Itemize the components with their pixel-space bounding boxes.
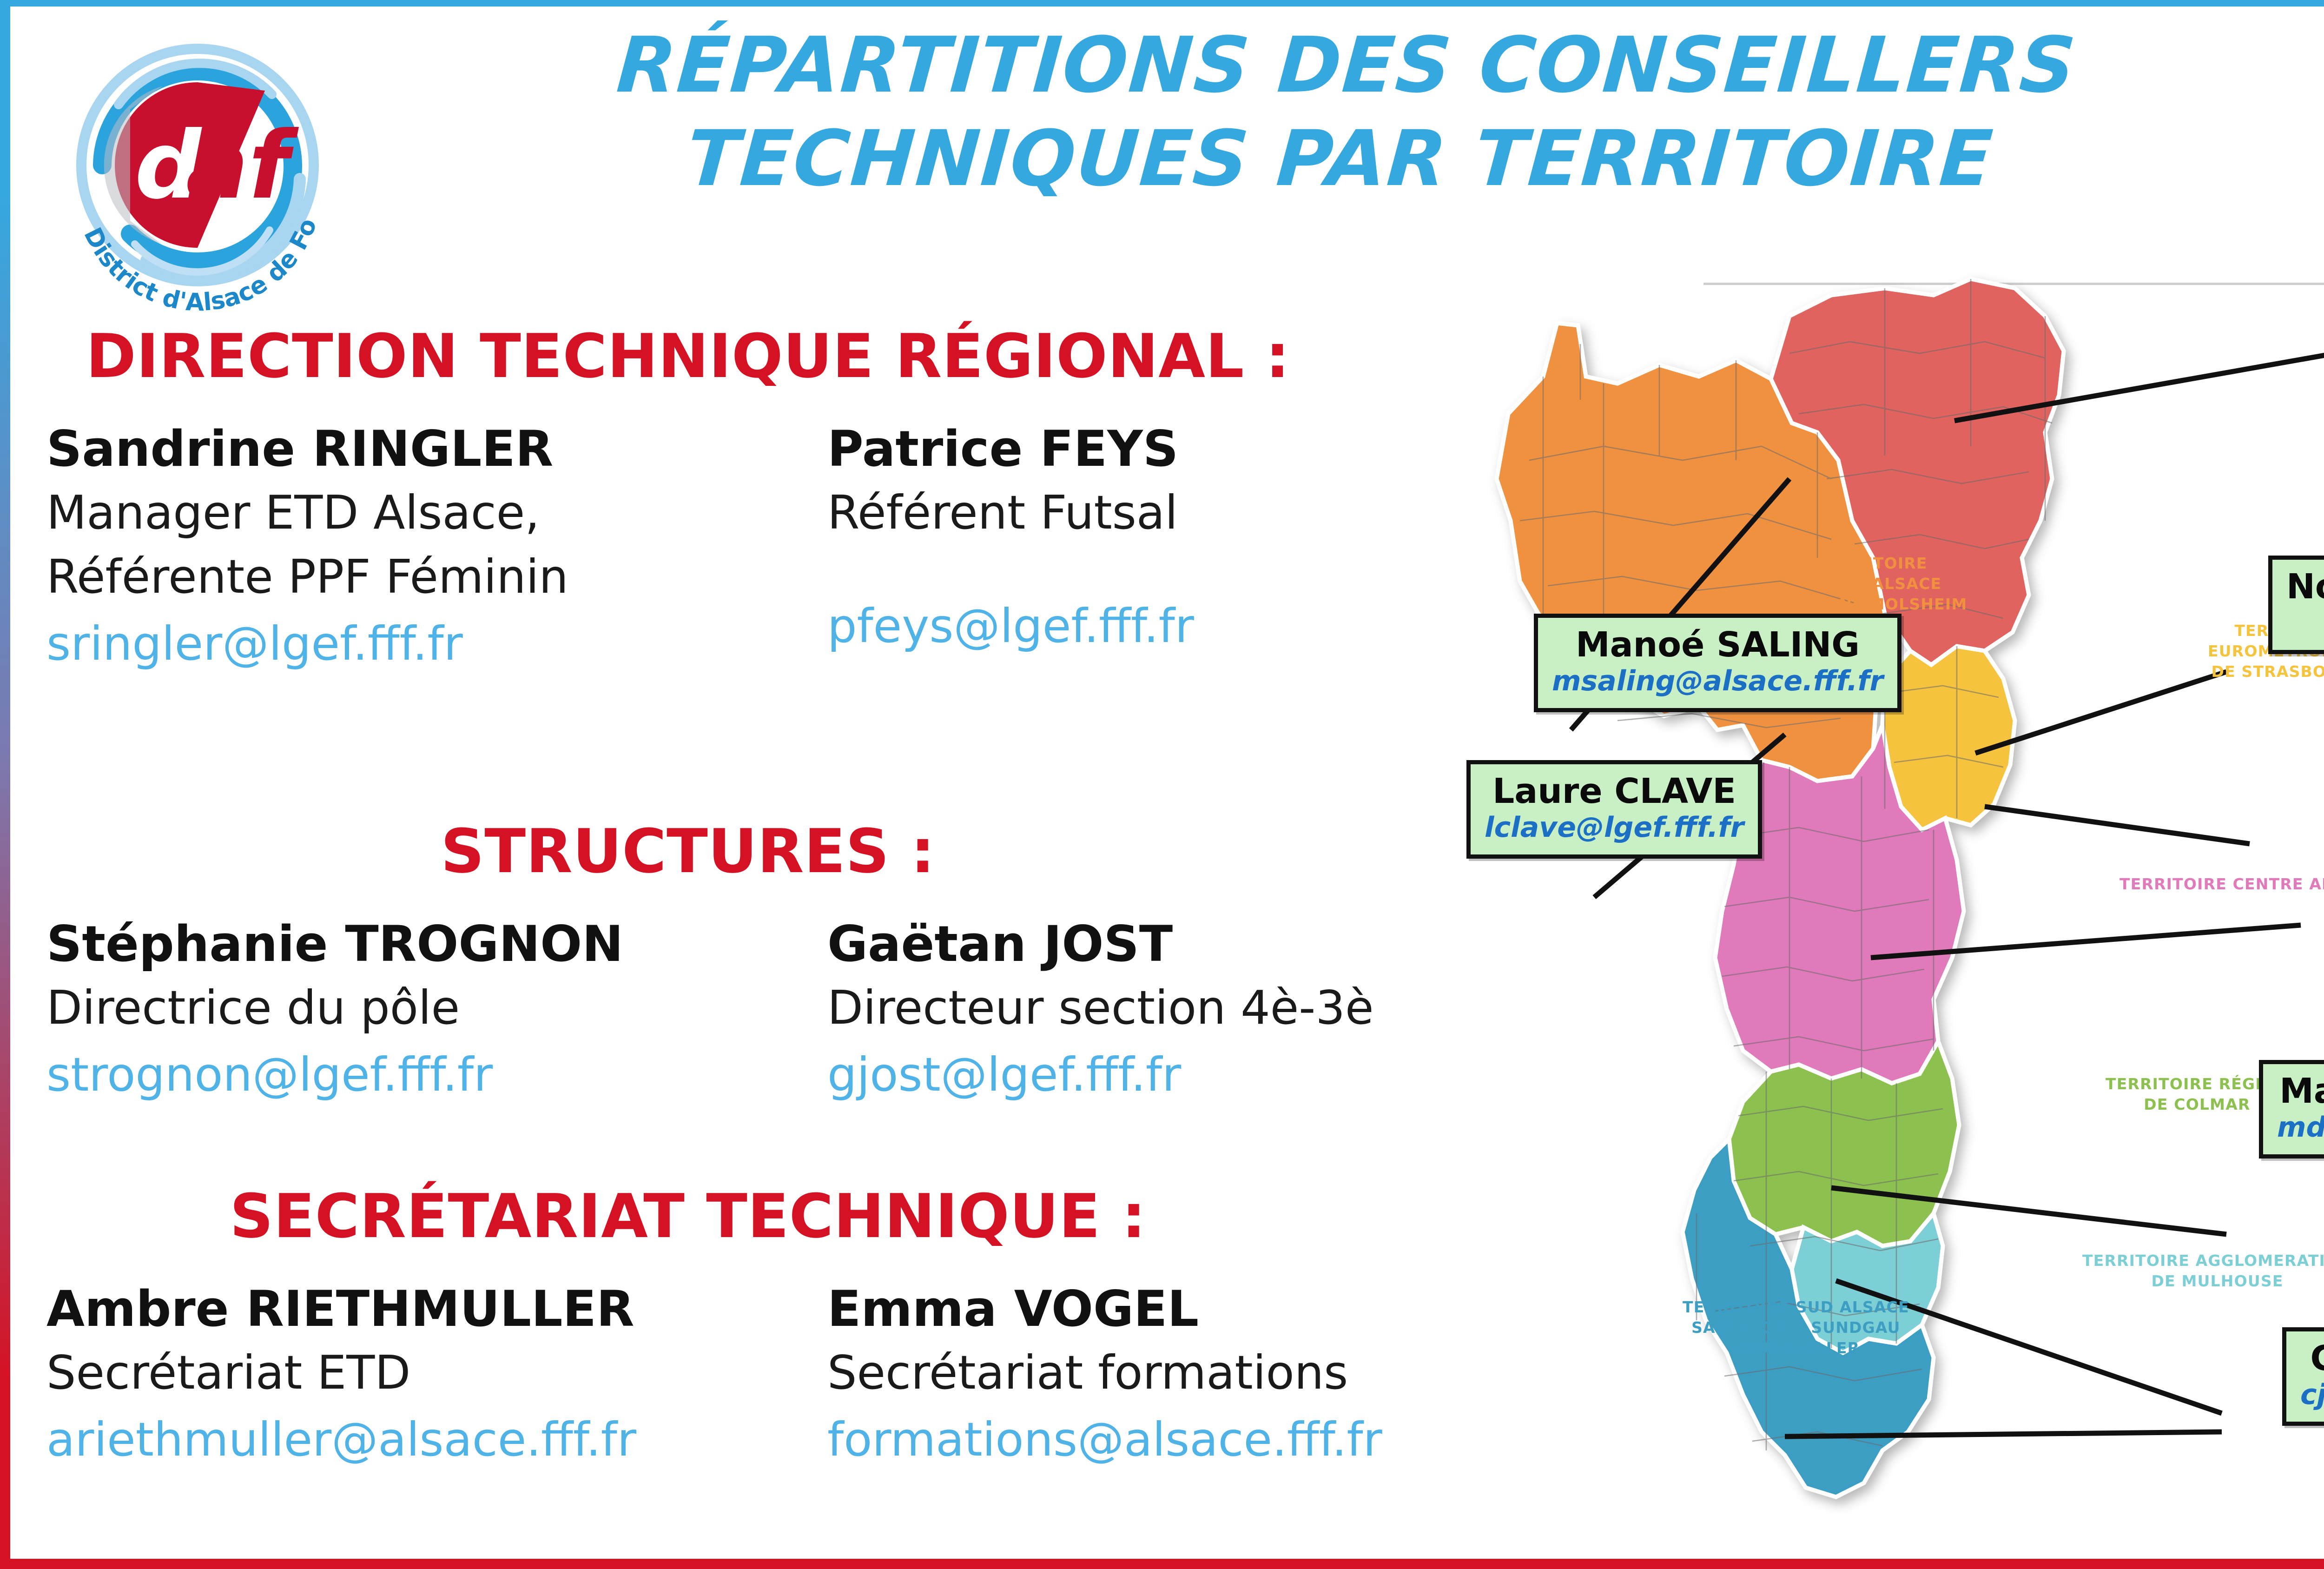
territory-line: SAINT-LOUIS SUNDGAU xyxy=(1683,1317,1909,1338)
callout-email[interactable]: lclave@lgef.fff.fr xyxy=(1485,811,1744,844)
region-eurometropole xyxy=(1882,646,2015,830)
people-row: Stéphanie TROGNON Directrice du pôle str… xyxy=(0,913,1376,1107)
callout-maxime-dechriste[interactable]: Maxime DECHRISTE mdechriste@alsace.fff.f… xyxy=(2259,1060,2324,1159)
callout-email[interactable]: mdechriste@alsace.fff.fr xyxy=(2277,1111,2324,1144)
person-card: Ambre RIETHMULLER Secrétariat ETD arieth… xyxy=(0,1278,827,1472)
title-line-1: RÉPARTITIONS DES CONSEILLERS xyxy=(600,19,2093,112)
logo-wordmark: d af xyxy=(135,112,299,220)
person-card: Emma VOGEL Secrétariat formations format… xyxy=(827,1278,1376,1472)
territory-line: SAVERNE MOLSHEIM xyxy=(1780,594,1967,615)
callout-name: Laure CLAVE xyxy=(1485,772,1744,811)
section-heading: STRUCTURES : xyxy=(0,816,1376,887)
person-card: Gaëtan JOST Directeur section 4è-3è gjos… xyxy=(827,913,1376,1107)
daf-logo: d af District d'Alsace de Football xyxy=(46,26,353,332)
territory-label-sud-alsace: TERRITOIRE SUD ALSACE SAINT-LOUIS SUNDGA… xyxy=(1683,1297,1909,1359)
callout-nourredine-ait-mouloud[interactable]: Nourredine AIT MOULOUD naitmouloud@lgef.… xyxy=(2268,556,2324,654)
section-secretariat-technique: SECRÉTARIAT TECHNIQUE : Ambre RIETHMULLE… xyxy=(0,1181,1376,1472)
territory-line: TERRITOIRE xyxy=(1780,553,1967,574)
territory-label-agglo-mulhouse: TERRITOIRE AGGLOMERATION DE MULHOUSE xyxy=(2082,1251,2324,1291)
person-card: Sandrine RINGLER Manager ETD Alsace, Réf… xyxy=(0,417,827,676)
callout-email[interactable]: naitmouloud@lgef.fff.fr xyxy=(2286,606,2324,640)
person-role-line1: Directrice du pôle xyxy=(46,976,827,1040)
person-role-line1: Secrétariat ETD xyxy=(46,1341,827,1405)
person-email[interactable]: sringler@lgef.fff.fr xyxy=(46,612,827,676)
callout-name: Nourredine AIT MOULOUD xyxy=(2286,567,2324,606)
territory-line: OUEST ALSACE xyxy=(1780,574,1967,594)
territory-line: DE STRASBOURG xyxy=(2208,662,2324,682)
person-role-line1: Référent Futsal xyxy=(827,481,1376,545)
person-role-line1: Directeur section 4è-3è xyxy=(827,976,1376,1040)
territory-line: DE MULHOUSE xyxy=(2082,1271,2324,1291)
territory-line: TERRITOIRE SUD ALSACE xyxy=(1683,1297,1909,1317)
person-name: Sandrine RINGLER xyxy=(46,417,827,481)
person-role-line1: Manager ETD Alsace, xyxy=(46,481,827,545)
callout-cyrille-jehl[interactable]: Cyrille JEHL cjehl@lgef.fff.fr xyxy=(2282,1327,2324,1426)
svg-text:af: af xyxy=(186,112,299,220)
territory-line: TERRITOIRE CENTRE ALSACE xyxy=(2119,874,2324,894)
person-email[interactable]: gjost@lgef.fff.fr xyxy=(827,1043,1376,1107)
person-name: Gaëtan JOST xyxy=(827,913,1376,976)
person-name: Patrice FEYS xyxy=(827,417,1376,481)
person-name: Ambre RIETHMULLER xyxy=(46,1278,827,1341)
section-direction-technique-regional: DIRECTION TECHNIQUE RÉGIONAL : Sandrine … xyxy=(0,321,1376,676)
callout-name: Maxime DECHRISTE xyxy=(2277,1072,2324,1111)
territory-line: THUR-DOLLER xyxy=(1683,1338,1909,1358)
person-role-line1: Secrétariat formations xyxy=(827,1341,1376,1405)
person-card: Stéphanie TROGNON Directrice du pôle str… xyxy=(0,913,827,1107)
person-email[interactable]: ariethmuller@alsace.fff.fr xyxy=(46,1408,827,1472)
section-heading: DIRECTION TECHNIQUE RÉGIONAL : xyxy=(0,321,1376,391)
callout-email[interactable]: cjehl@lgef.fff.fr xyxy=(2300,1378,2324,1411)
callout-name: Cyrille JEHL xyxy=(2300,1339,2324,1378)
territory-label-ouest-alsace: TERRITOIRE OUEST ALSACE SAVERNE MOLSHEIM xyxy=(1780,553,1967,615)
connector-maxime-artz xyxy=(1985,807,2250,844)
section-heading: SECRÉTARIAT TECHNIQUE : xyxy=(0,1181,1376,1251)
person-email[interactable]: formations@alsace.fff.fr xyxy=(827,1408,1376,1472)
people-row: Ambre RIETHMULLER Secrétariat ETD arieth… xyxy=(0,1278,1376,1472)
callout-name: Manoé SALING xyxy=(1552,625,1883,664)
person-name: Stéphanie TROGNON xyxy=(46,913,827,976)
people-row: Sandrine RINGLER Manager ETD Alsace, Réf… xyxy=(0,417,1376,676)
person-role-line2: Référente PPF Féminin xyxy=(46,545,827,609)
person-email[interactable]: pfeys@lgef.fff.fr xyxy=(827,594,1376,658)
person-email[interactable]: strognon@lgef.fff.fr xyxy=(46,1043,827,1107)
section-structures: STRUCTURES : Stéphanie TROGNON Directric… xyxy=(0,816,1376,1107)
callout-laure-clave[interactable]: Laure CLAVE lclave@lgef.fff.fr xyxy=(1466,760,1762,859)
callout-email[interactable]: msaling@alsace.fff.fr xyxy=(1552,664,1883,698)
role-spacer xyxy=(827,545,1376,591)
title-line-2: TECHNIQUES PAR TERRITOIRE xyxy=(593,112,2087,205)
person-card: Patrice FEYS Référent Futsal pfeys@lgef.… xyxy=(827,417,1376,676)
callout-manoe-saling[interactable]: Manoé SALING msaling@alsace.fff.fr xyxy=(1534,614,1901,712)
territory-line: TERRITOIRE AGGLOMERATION xyxy=(2082,1251,2324,1271)
territory-label-centre-alsace: TERRITOIRE CENTRE ALSACE xyxy=(2119,874,2324,894)
person-name: Emma VOGEL xyxy=(827,1278,1376,1341)
page-title: RÉPARTITIONS DES CONSEILLERS TECHNIQUES … xyxy=(593,19,2093,206)
